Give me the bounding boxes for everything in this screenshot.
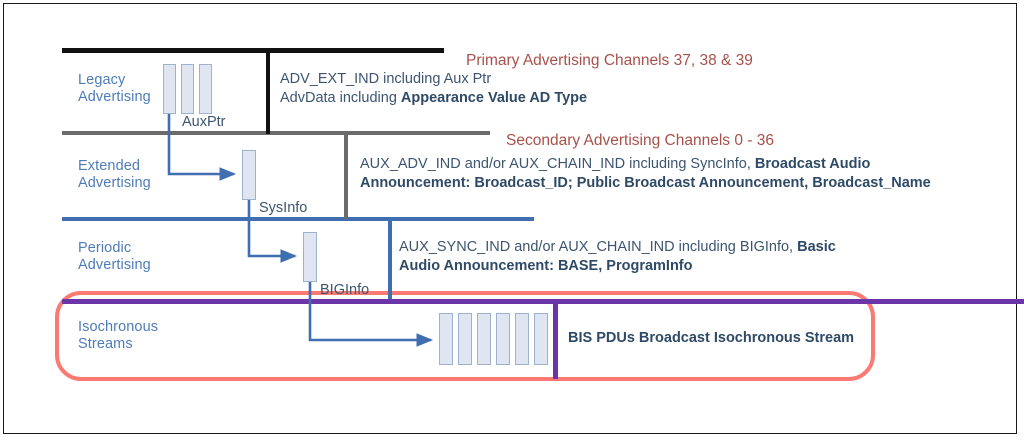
diagram-canvas: Legacy Advertising AuxPtr Primary Advert… [0,0,1024,441]
arrow-biginfo-to-bis [310,282,431,340]
diagram-page: Legacy Advertising AuxPtr Primary Advert… [0,0,1024,441]
connector-arrows [0,0,1024,441]
arrow-sysinfo-to-periodic [249,200,295,256]
arrow-auxptr-to-extended [169,114,234,174]
